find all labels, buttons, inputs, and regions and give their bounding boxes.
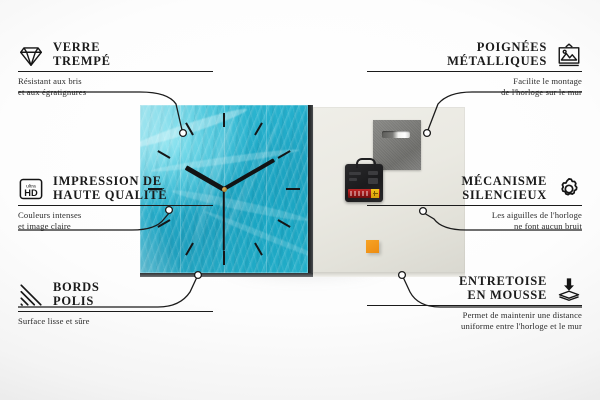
mechanism-detail [349,178,357,181]
svg-text:HD: HD [24,187,38,197]
foam-spacer [366,240,379,253]
feature-title: BORDS POLIS [53,281,100,308]
feature-header: ultra HD IMPRESSION DE HAUTE QUALITÉ [18,175,233,202]
metal-hanger-plate [373,120,421,170]
feature-rule [18,311,213,312]
feature-title: POIGNÉES MÉTALLIQUES [447,41,547,68]
feature-verre-trempe: VERRE TREMPÉ Résistant aux bris et aux é… [18,41,233,97]
gear-icon [556,176,582,202]
feature-header: POIGNÉES MÉTALLIQUES [367,41,582,68]
feature-header: VERRE TREMPÉ [18,41,233,68]
feature-title: ENTRETOISE EN MOUSSE [459,275,547,302]
feature-rule [367,205,582,206]
glass-edge-bottom [140,273,313,277]
diamond-icon [18,42,44,68]
feature-rule [367,305,582,306]
feature-rule [18,205,213,206]
foam-spacer-icon [556,276,582,302]
mechanism-detail [349,172,361,175]
picture-hanger-icon [556,42,582,68]
feature-header: ENTRETOISE EN MOUSSE [367,275,582,302]
feature-title: IMPRESSION DE HAUTE QUALITÉ [53,175,167,202]
ultra-hd-icon: ultra HD [18,176,44,202]
feature-rule [18,71,213,72]
hanger-slot [382,131,410,138]
poster-canvas: VERRE TREMPÉ Résistant aux bris et aux é… [0,0,600,400]
feature-rule [367,71,582,72]
feature-mecanisme-silencieux: MÉCANISME SILENCIEUX Les aiguilles de l'… [367,175,582,231]
feature-header: MÉCANISME SILENCIEUX [367,175,582,202]
feature-entretoise-en-mousse: ENTRETOISE EN MOUSSE Permet de maintenir… [367,275,582,331]
mechanism-hanging-loop [356,158,376,168]
feature-bords-polis: BORDS POLIS Surface lisse et sûre [18,281,233,327]
feature-impression-haute-qualite: ultra HD IMPRESSION DE HAUTE QUALITÉ Cou… [18,175,233,231]
feature-header: BORDS POLIS [18,281,233,308]
feature-title: VERRE TREMPÉ [53,41,111,68]
polished-edge-icon [18,282,44,308]
feature-title: MÉCANISME SILENCIEUX [462,175,547,202]
feature-poignees-metalliques: POIGNÉES MÉTALLIQUES Facilite le montage… [367,41,582,97]
